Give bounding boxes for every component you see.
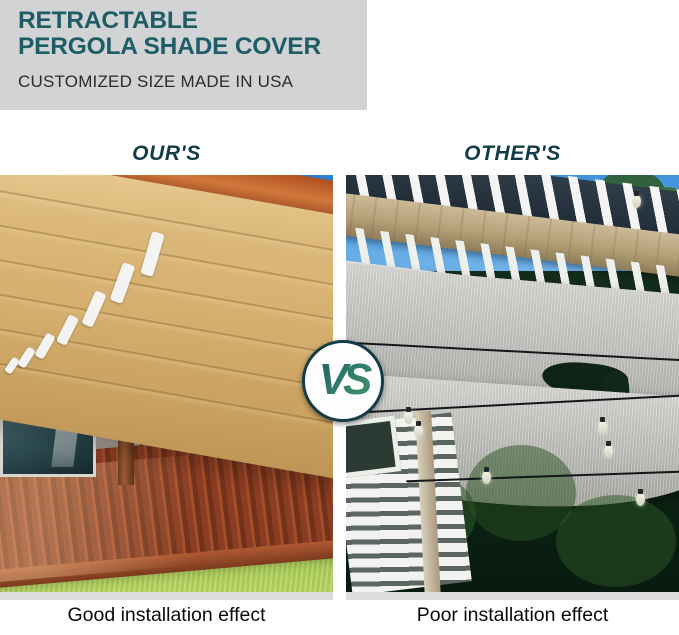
light-bulb [604,445,613,458]
label-others: OTHER'S [346,142,679,166]
light-bulb [632,195,641,208]
light-bulb [414,425,423,438]
banner-subtitle: CUSTOMIZED SIZE MADE IN USA [18,72,293,92]
photo-poor-installation [346,175,679,592]
banner-title: RETRACTABLE PERGOLA SHADE COVER [18,8,363,60]
photo-good-installation [0,175,333,592]
caption-divider-gap [333,592,346,600]
label-ours: OUR'S [0,142,333,166]
light-bulb [482,471,491,484]
header-banner: RETRACTABLE PERGOLA SHADE COVER CUSTOMIZ… [0,0,367,110]
caption-good: Good installation effect [0,604,333,627]
vs-badge: VS [302,340,384,422]
banner-title-line1: RETRACTABLE [18,7,198,34]
window [346,415,401,478]
caption-poor: Poor installation effect [346,604,679,627]
light-bulb [636,493,645,506]
caption-divider [0,592,679,600]
vs-badge-label: VS [305,343,381,419]
product-comparison-image: RETRACTABLE PERGOLA SHADE COVER CUSTOMIZ… [0,0,679,635]
light-bulb [598,421,607,434]
banner-title-line2: PERGOLA SHADE COVER [18,34,363,60]
light-bulb [404,411,413,424]
